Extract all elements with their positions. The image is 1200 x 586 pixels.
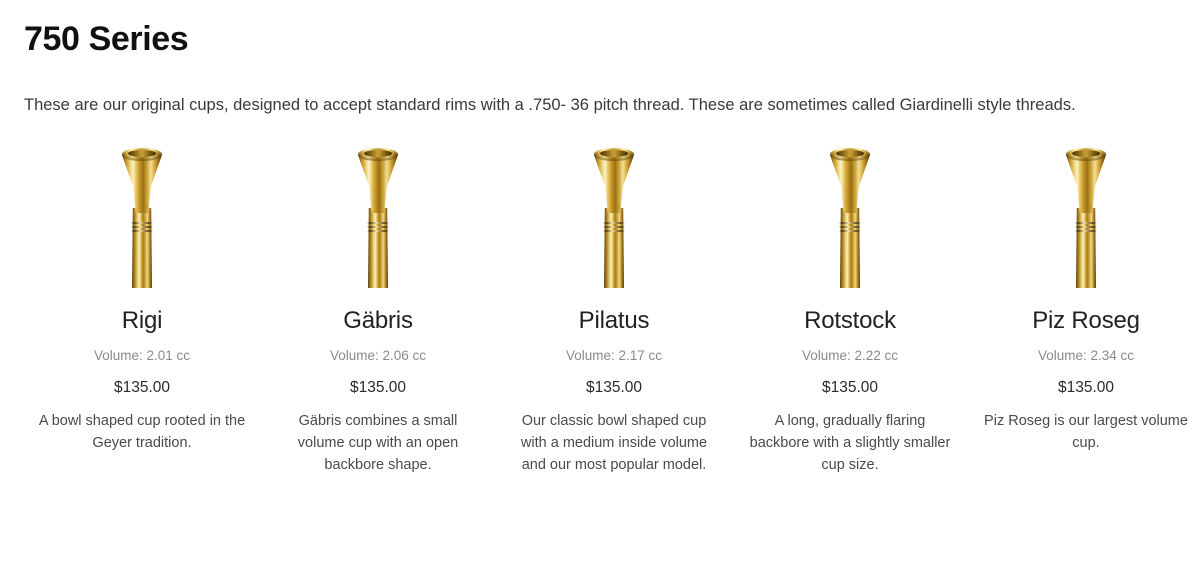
product-volume: Volume: 2.17 cc xyxy=(504,336,724,365)
page-title: 750 Series xyxy=(24,0,1176,62)
product-name[interactable]: Rotstock xyxy=(740,298,960,336)
mouthpiece-engraved-ring xyxy=(1075,222,1097,224)
mouthpiece-shank xyxy=(1076,208,1096,288)
trumpet-mouthpiece-icon xyxy=(116,148,168,288)
trumpet-mouthpiece-icon xyxy=(588,148,640,288)
product-description: A bowl shaped cup rooted in the Geyer tr… xyxy=(38,398,246,454)
product-name[interactable]: Rigi xyxy=(32,298,252,336)
mouthpiece-cup xyxy=(1066,155,1106,213)
mouthpiece-engraved-ring xyxy=(1075,230,1097,232)
product-description: A long, gradually flaring backbore with … xyxy=(746,398,954,476)
mouthpiece-engraved-ring xyxy=(131,222,153,224)
mouthpiece-engraved-ring xyxy=(131,230,153,232)
mouthpiece-engraved-ring xyxy=(603,226,625,228)
product-price: $135.00 xyxy=(32,365,252,398)
product-card[interactable]: Rotstock Volume: 2.22 cc $135.00 A long,… xyxy=(732,148,968,476)
mouthpiece-cup xyxy=(594,155,634,213)
mouthpiece-cup xyxy=(830,155,870,213)
mouthpiece-rim-bore xyxy=(1072,150,1100,157)
product-price: $135.00 xyxy=(740,365,960,398)
product-name[interactable]: Gäbris xyxy=(268,298,488,336)
product-price: $135.00 xyxy=(268,365,488,398)
product-name[interactable]: Piz Roseg xyxy=(976,298,1196,336)
product-volume: Volume: 2.06 cc xyxy=(268,336,488,365)
product-card[interactable]: Rigi Volume: 2.01 cc $135.00 A bowl shap… xyxy=(24,148,260,454)
mouthpiece-engraved-ring xyxy=(1075,226,1097,228)
mouthpiece-shank xyxy=(368,208,388,288)
product-image[interactable] xyxy=(268,148,488,298)
product-card[interactable]: Pilatus Volume: 2.17 cc $135.00 Our clas… xyxy=(496,148,732,476)
mouthpiece-rim-bore xyxy=(836,150,864,157)
mouthpiece-cup xyxy=(358,155,398,213)
product-image[interactable] xyxy=(740,148,960,298)
trumpet-mouthpiece-icon xyxy=(352,148,404,288)
product-volume: Volume: 2.22 cc xyxy=(740,336,960,365)
mouthpiece-rim-bore xyxy=(128,150,156,157)
series-description: These are our original cups, designed to… xyxy=(24,62,1139,120)
product-image[interactable] xyxy=(32,148,252,298)
product-description: Piz Roseg is our largest volume cup. xyxy=(982,398,1190,454)
mouthpiece-engraved-ring xyxy=(367,222,389,224)
product-price: $135.00 xyxy=(504,365,724,398)
mouthpiece-engraved-ring xyxy=(839,222,861,224)
product-volume: Volume: 2.01 cc xyxy=(32,336,252,365)
product-image[interactable] xyxy=(504,148,724,298)
mouthpiece-engraved-ring xyxy=(839,226,861,228)
trumpet-mouthpiece-icon xyxy=(824,148,876,288)
trumpet-mouthpiece-icon xyxy=(1060,148,1112,288)
mouthpiece-shank xyxy=(132,208,152,288)
product-card[interactable]: Piz Roseg Volume: 2.34 cc $135.00 Piz Ro… xyxy=(968,148,1200,454)
mouthpiece-engraved-ring xyxy=(131,226,153,228)
mouthpiece-engraved-ring xyxy=(367,230,389,232)
product-volume: Volume: 2.34 cc xyxy=(976,336,1196,365)
mouthpiece-shank xyxy=(604,208,624,288)
product-grid: Rigi Volume: 2.01 cc $135.00 A bowl shap… xyxy=(24,120,1176,476)
mouthpiece-engraved-ring xyxy=(839,230,861,232)
mouthpiece-cup xyxy=(122,155,162,213)
mouthpiece-engraved-ring xyxy=(367,226,389,228)
product-price: $135.00 xyxy=(976,365,1196,398)
mouthpiece-shank xyxy=(840,208,860,288)
product-listing-page: 750 Series These are our original cups, … xyxy=(0,0,1200,586)
product-name[interactable]: Pilatus xyxy=(504,298,724,336)
product-image[interactable] xyxy=(976,148,1196,298)
mouthpiece-engraved-ring xyxy=(603,230,625,232)
mouthpiece-rim-bore xyxy=(600,150,628,157)
mouthpiece-rim-bore xyxy=(364,150,392,157)
product-description: Gäbris combines a small volume cup with … xyxy=(274,398,482,476)
product-card[interactable]: Gäbris Volume: 2.06 cc $135.00 Gäbris co… xyxy=(260,148,496,476)
product-description: Our classic bowl shaped cup with a mediu… xyxy=(510,398,718,476)
mouthpiece-engraved-ring xyxy=(603,222,625,224)
